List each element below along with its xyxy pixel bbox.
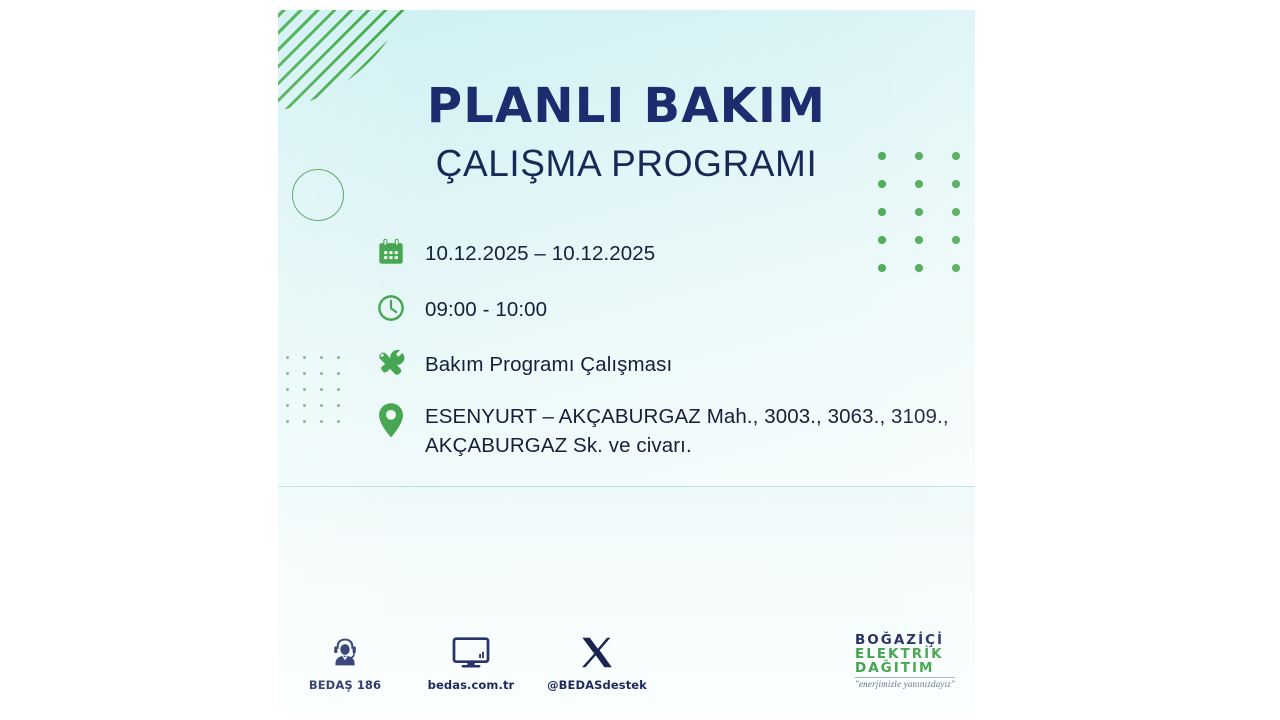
decorative-dot bbox=[337, 404, 340, 407]
decorative-dot bbox=[952, 236, 960, 244]
decorative-dot bbox=[286, 372, 289, 375]
maintenance-details-list: 10.12.2025 – 10.12.2025 09:00 - 10:00 bbox=[371, 232, 951, 460]
decorative-dot bbox=[320, 356, 323, 359]
tools-icon bbox=[371, 344, 411, 384]
decorative-dot bbox=[320, 372, 323, 375]
calendar-icon bbox=[371, 232, 411, 272]
decorative-dot bbox=[320, 388, 323, 391]
work-type-text: Bakım Programı Çalışması bbox=[425, 344, 672, 379]
decorative-dot bbox=[337, 372, 340, 375]
decorative-dot bbox=[337, 420, 340, 423]
poster-heading: PLANLI BAKIM ÇALIŞMA PROGRAMI bbox=[278, 82, 975, 182]
detail-row-work-type: Bakım Programı Çalışması bbox=[371, 344, 951, 384]
clock-icon bbox=[371, 288, 411, 328]
contact-phone[interactable]: BEDAŞ 186 bbox=[302, 630, 388, 692]
location-text: ESENYURT – AKÇABURGAZ Mah., 3003., 3063.… bbox=[425, 400, 951, 460]
decorative-dot bbox=[286, 356, 289, 359]
brand-tagline: "enerjimizle yanınızdayız" bbox=[855, 680, 955, 690]
poster-footer: BEDAŞ 186 bbox=[278, 606, 975, 692]
planned-maintenance-poster: PLANLI BAKIM ÇALIŞMA PROGRAMI bbox=[278, 10, 975, 710]
page-title: PLANLI BAKIM bbox=[278, 82, 975, 130]
contact-phone-label: BEDAŞ 186 bbox=[309, 678, 381, 692]
contact-channels: BEDAŞ 186 bbox=[302, 630, 640, 692]
detail-row-time: 09:00 - 10:00 bbox=[371, 288, 951, 328]
date-range-text: 10.12.2025 – 10.12.2025 bbox=[425, 232, 655, 268]
decorative-dot bbox=[303, 420, 306, 423]
decorative-dot bbox=[337, 388, 340, 391]
decorative-dot bbox=[320, 404, 323, 407]
decorative-dot bbox=[286, 404, 289, 407]
decorative-dot bbox=[337, 356, 340, 359]
brand-line-bogazici: BOĞAZİÇİ bbox=[855, 633, 955, 647]
decorative-dot bbox=[320, 420, 323, 423]
decorative-dot bbox=[303, 388, 306, 391]
headset-operator-icon bbox=[327, 630, 363, 670]
decorative-dot bbox=[915, 208, 923, 216]
detail-row-date: 10.12.2025 – 10.12.2025 bbox=[371, 232, 951, 272]
contact-website-label: bedas.com.tr bbox=[428, 678, 515, 692]
decorative-dot bbox=[286, 388, 289, 391]
decorative-dot bbox=[303, 372, 306, 375]
contact-social-label: @BEDASdestek bbox=[547, 678, 647, 692]
brand-divider bbox=[855, 677, 955, 678]
decorative-dot bbox=[286, 420, 289, 423]
monitor-icon bbox=[452, 630, 490, 670]
detail-row-location: ESENYURT – AKÇABURGAZ Mah., 3003., 3063.… bbox=[371, 400, 951, 460]
location-pin-icon bbox=[371, 400, 411, 440]
bedas-logo: BOĞAZİÇİ ELEKTRİK DAĞITIM "enerjimizle y… bbox=[855, 633, 955, 690]
decorative-dot bbox=[303, 404, 306, 407]
page-subtitle: ÇALIŞMA PROGRAMI bbox=[278, 145, 975, 182]
screenshot-root: PLANLI BAKIM ÇALIŞMA PROGRAMI bbox=[0, 0, 1280, 720]
x-twitter-icon bbox=[580, 630, 614, 670]
decorative-dot bbox=[952, 264, 960, 272]
contact-website[interactable]: bedas.com.tr bbox=[428, 630, 514, 692]
decorative-dot bbox=[952, 208, 960, 216]
brand-line-dagitim: DAĞITIM bbox=[855, 661, 955, 675]
contact-social[interactable]: @BEDASdestek bbox=[554, 630, 640, 692]
decorative-dot bbox=[303, 356, 306, 359]
decorative-dot bbox=[878, 208, 886, 216]
time-range-text: 09:00 - 10:00 bbox=[425, 288, 547, 324]
dot-grid-left-decoration bbox=[286, 356, 354, 436]
